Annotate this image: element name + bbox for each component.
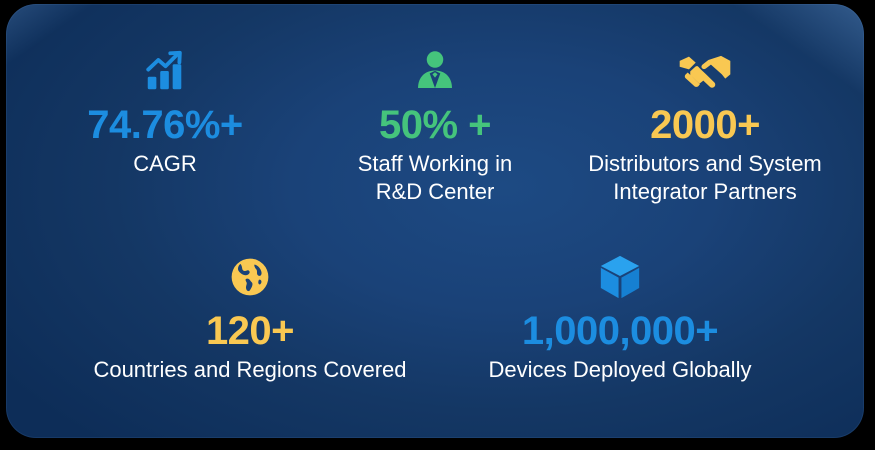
stat-label-line2: Integrator Partners — [613, 179, 796, 204]
stat-item-countries: 120+ Countries and Regions Covered — [65, 252, 435, 384]
stats-grid: 74.76%+ CAGR 50% + St — [6, 4, 864, 438]
company-stats-card: 74.76%+ CAGR 50% + St — [6, 4, 864, 438]
stat-item-cagr: 74.76%+ CAGR — [30, 46, 300, 178]
stat-label: Distributors and System Integrator Partn… — [588, 150, 822, 206]
stat-label: Countries and Regions Covered — [93, 356, 406, 384]
stats-row-bottom: 120+ Countries and Regions Covered 1,000… — [6, 252, 864, 384]
cube-box-icon — [597, 252, 643, 302]
stat-label: CAGR — [133, 150, 197, 178]
stat-label-line1: Distributors and System — [588, 151, 822, 176]
stat-label: Staff Working in R&D Center — [358, 150, 512, 206]
globe-icon — [229, 252, 271, 302]
stat-value: 74.76%+ — [87, 104, 243, 146]
stat-label-line1: Staff Working in — [358, 151, 512, 176]
business-person-icon — [413, 46, 457, 96]
stat-value: 120+ — [206, 310, 294, 352]
stats-row-top: 74.76%+ CAGR 50% + St — [6, 46, 864, 206]
stat-item-partners: 2000+ Distributors and System Integrator… — [570, 46, 840, 206]
stat-value: 50% + — [379, 104, 491, 146]
growth-bar-chart-icon — [142, 46, 188, 96]
handshake-icon — [678, 46, 732, 96]
stat-label: Devices Deployed Globally — [489, 356, 752, 384]
stat-value: 2000+ — [650, 104, 760, 146]
stat-item-devices: 1,000,000+ Devices Deployed Globally — [435, 252, 805, 384]
stat-value: 1,000,000+ — [522, 310, 718, 352]
stat-label-line2: R&D Center — [376, 179, 495, 204]
stat-item-rd-staff: 50% + Staff Working in R&D Center — [300, 46, 570, 206]
